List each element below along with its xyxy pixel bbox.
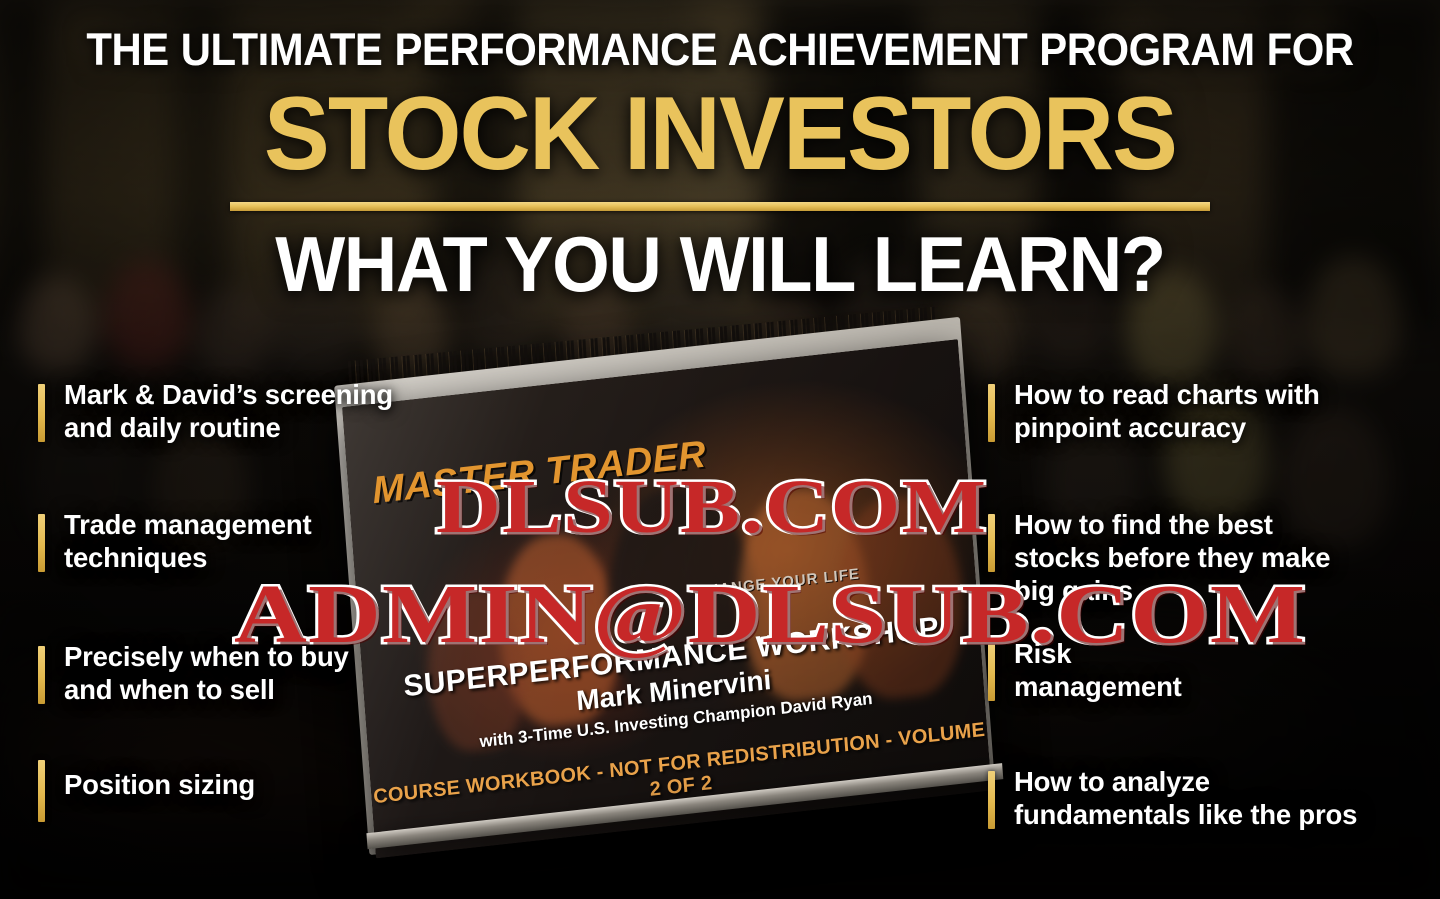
bullet-marker-icon bbox=[38, 514, 45, 572]
list-item-label: How to read charts with pinpoint accurac… bbox=[1014, 378, 1423, 444]
bullet-marker-icon bbox=[988, 514, 995, 572]
list-item: How to analyze fundamentals like the pro… bbox=[988, 765, 1423, 831]
watermark-site: DLSUB.COM bbox=[436, 464, 987, 551]
list-item: Position sizing bbox=[38, 768, 468, 801]
headline-eyebrow: THE ULTIMATE PERFORMANCE ACHIEVEMENT PRO… bbox=[50, 24, 1389, 76]
watermark-email: ADMIN@DLSUB.COM bbox=[234, 566, 1306, 663]
bullet-marker-icon bbox=[988, 771, 995, 829]
list-item-label: Position sizing bbox=[64, 768, 468, 801]
promo-banner: MASTER TRADER CHANGE YOUR LIFE SUPERPERF… bbox=[0, 0, 1440, 899]
bullet-marker-icon bbox=[38, 384, 45, 442]
list-item: How to read charts with pinpoint accurac… bbox=[988, 378, 1423, 444]
headline-divider bbox=[230, 202, 1210, 211]
list-item: Mark & David’s screening and daily routi… bbox=[38, 378, 468, 444]
headline-title: STOCK INVESTORS bbox=[36, 78, 1404, 190]
headline-block: THE ULTIMATE PERFORMANCE ACHIEVEMENT PRO… bbox=[0, 0, 1440, 307]
list-item-label: Trade management techniques bbox=[64, 508, 468, 574]
bullet-marker-icon bbox=[38, 760, 45, 822]
list-item-label: How to analyze fundamentals like the pro… bbox=[1014, 765, 1423, 831]
headline-question: WHAT YOU WILL LEARN? bbox=[36, 221, 1404, 307]
list-item: Trade management techniques bbox=[38, 508, 468, 574]
bullet-marker-icon bbox=[988, 384, 995, 442]
bullet-marker-icon bbox=[38, 646, 45, 704]
list-item-label: Mark & David’s screening and daily routi… bbox=[64, 378, 468, 444]
